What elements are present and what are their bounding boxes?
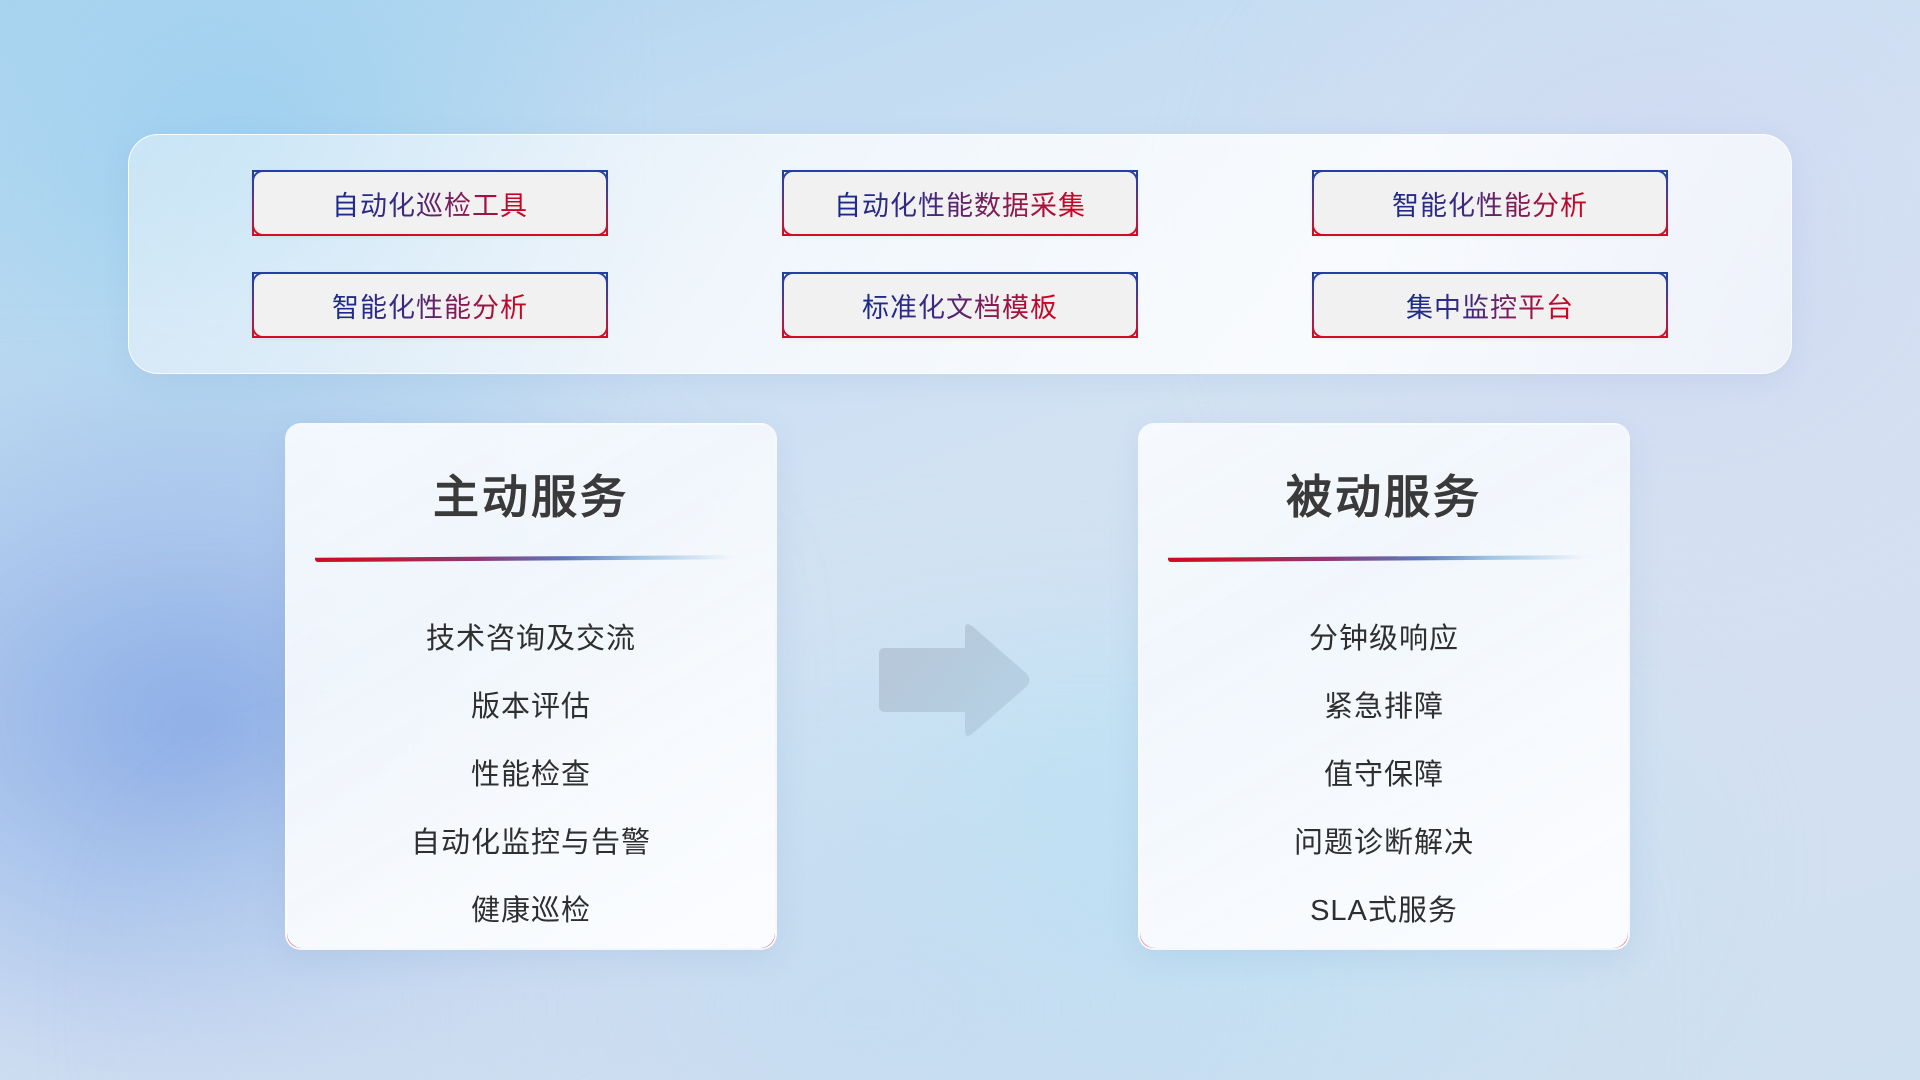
passive-service-item-list: 分钟级响应 紧急排障 值守保障 问题诊断解决 SLA式服务 — [1140, 606, 1628, 945]
capability-pill-label: 自动化性能数据采集 — [834, 184, 1086, 223]
active-service-card-title: 主动服务 — [287, 461, 775, 527]
list-item: 值守保障 — [1166, 742, 1602, 810]
list-item: 问题诊断解决 — [1166, 810, 1602, 878]
passive-service-card: 被动服务 分钟级响应 紧急排障 值守保障 问题诊断解决 SLA式服务 — [1138, 423, 1630, 950]
capability-pill-automation-inspection-tool[interactable]: 自动化巡检工具 — [252, 170, 608, 236]
capability-pill-automation-performance-collection[interactable]: 自动化性能数据采集 — [782, 170, 1138, 236]
capability-pill-label: 智能化性能分析 — [332, 286, 528, 325]
capability-pill-label: 智能化性能分析 — [1392, 184, 1588, 223]
pill-inner-surface: 智能化性能分析 — [254, 274, 606, 336]
pill-inner-surface: 自动化性能数据采集 — [784, 172, 1136, 234]
capability-pill-intelligent-performance-analysis-top[interactable]: 智能化性能分析 — [1312, 170, 1668, 236]
list-item: 分钟级响应 — [1166, 606, 1602, 674]
capability-pill-centralized-monitoring-platform[interactable]: 集中监控平台 — [1312, 272, 1668, 338]
capability-pill-standard-document-template[interactable]: 标准化文档模板 — [782, 272, 1138, 338]
pill-inner-surface: 集中监控平台 — [1314, 274, 1666, 336]
passive-service-card-divider — [1168, 555, 1600, 562]
list-item: 版本评估 — [313, 674, 749, 742]
active-service-card-divider — [315, 555, 747, 562]
active-service-card: 主动服务 技术咨询及交流 版本评估 性能检查 自动化监控与告警 健康巡检 — [285, 423, 777, 950]
capability-pill-intelligent-performance-analysis-bottom[interactable]: 智能化性能分析 — [252, 272, 608, 338]
capability-tags-panel: 自动化巡检工具 自动化性能数据采集 智能化性能分析 智能化性能分析 标准化文档模… — [128, 134, 1792, 374]
list-item: 技术咨询及交流 — [313, 606, 749, 674]
list-item: 性能检查 — [313, 742, 749, 810]
capability-pill-label: 自动化巡检工具 — [332, 184, 528, 223]
pill-inner-surface: 自动化巡检工具 — [254, 172, 606, 234]
pill-inner-surface: 标准化文档模板 — [784, 274, 1136, 336]
arrow-right-icon — [873, 620, 1033, 740]
list-item: 健康巡检 — [313, 878, 749, 946]
active-service-item-list: 技术咨询及交流 版本评估 性能检查 自动化监控与告警 健康巡检 — [287, 606, 775, 945]
list-item: SLA式服务 — [1166, 878, 1602, 946]
list-item: 自动化监控与告警 — [313, 810, 749, 878]
list-item: 紧急排障 — [1166, 674, 1602, 742]
pill-inner-surface: 智能化性能分析 — [1314, 172, 1666, 234]
passive-service-card-title: 被动服务 — [1140, 461, 1628, 527]
capability-pill-label: 标准化文档模板 — [862, 286, 1058, 325]
capability-pill-label: 集中监控平台 — [1406, 286, 1574, 325]
